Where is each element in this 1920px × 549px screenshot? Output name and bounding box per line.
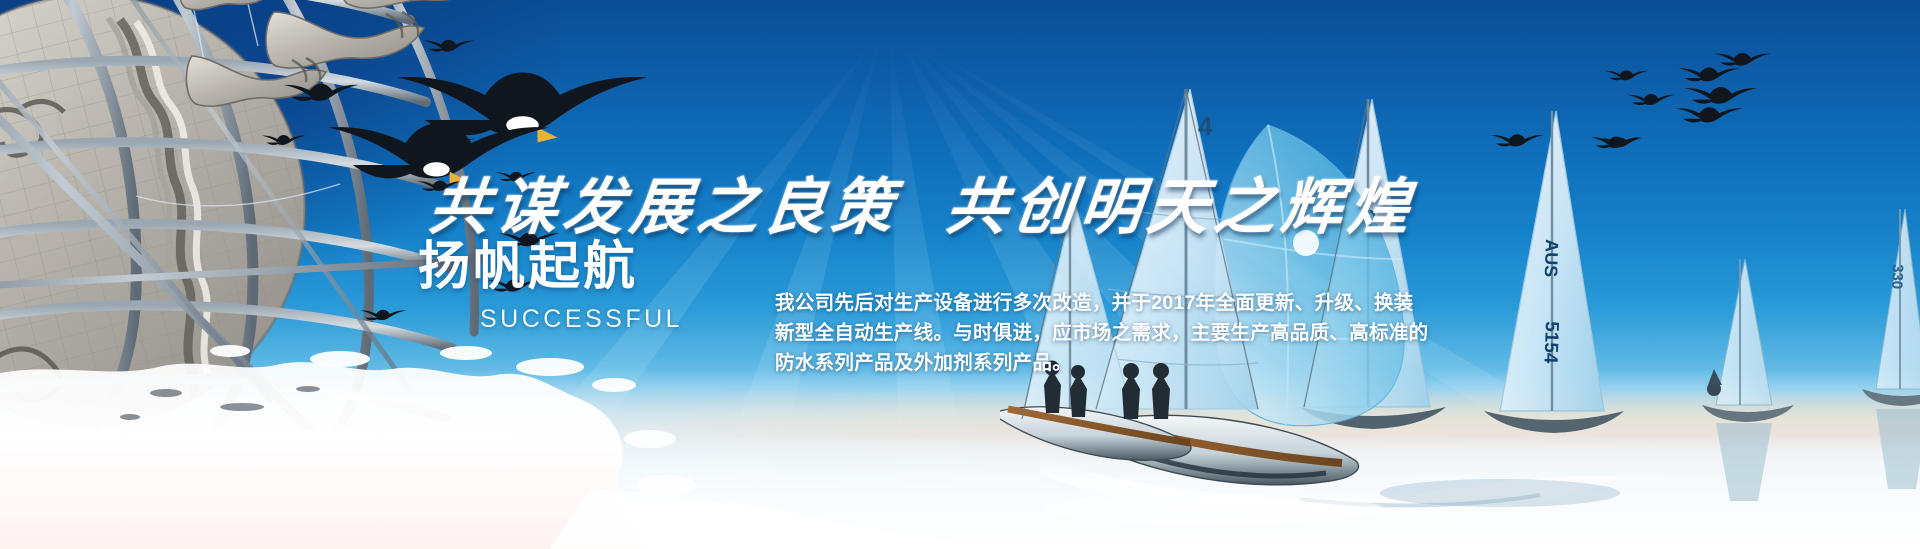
description-text: 我公司先后对生产设备进行多次改造，并于2017年全面更新、升级、换装 新型全自动… bbox=[775, 288, 1415, 378]
sail-number-right: 5154 bbox=[1540, 321, 1562, 364]
headline-calligraphy: 共谋发展之良策 共创明天之辉煌 bbox=[430, 168, 1190, 246]
slogan-block: 扬帆起航 SUCCESSFUL bbox=[418, 240, 648, 334]
description-line-1: 我公司先后对生产设备进行多次改造，并于2017年全面更新、升级、换装 bbox=[775, 288, 1415, 318]
slogan-chinese: 扬帆起航 bbox=[418, 240, 648, 295]
slogan-english: SUCCESSFUL bbox=[480, 305, 648, 334]
sail-country-code: AUS bbox=[1541, 239, 1562, 278]
promo-banner: 330 AUS 5154 9 bbox=[0, 0, 1920, 549]
headline-part-1: 共谋发展之良策 bbox=[425, 157, 903, 246]
description-line-3: 防水系列产品及外加剂系列产品。 bbox=[775, 348, 1415, 378]
sail-number-front: 4 bbox=[1198, 111, 1213, 141]
description-line-2: 新型全自动生产线。与时俱进，应市场之需求，主要生产高品质、高标准的 bbox=[775, 318, 1415, 348]
sail-number-far-right: 330 bbox=[1888, 264, 1906, 290]
sail-aus: AUS 5154 bbox=[1484, 111, 1624, 433]
headline-part-2: 共创明天之辉煌 bbox=[942, 157, 1420, 246]
